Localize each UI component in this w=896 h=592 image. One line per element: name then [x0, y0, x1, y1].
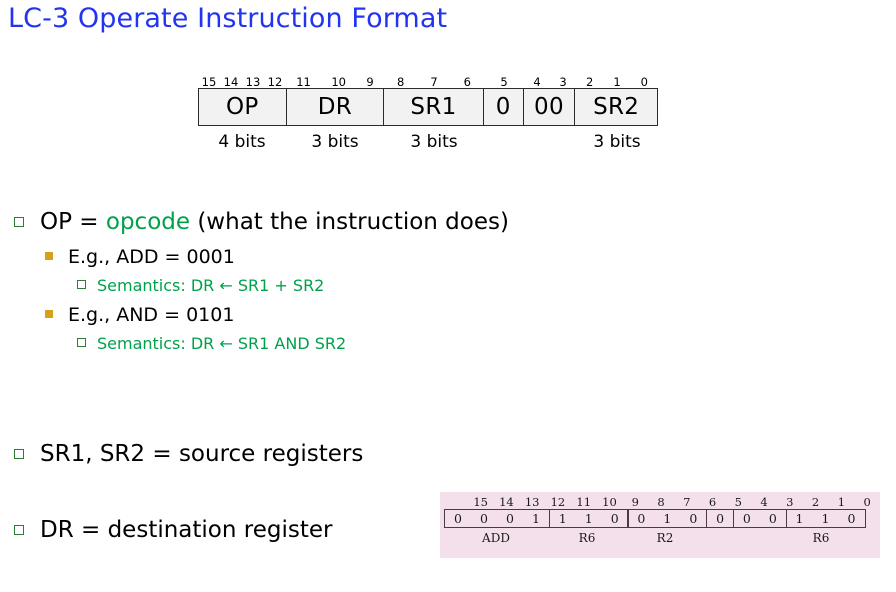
- encoding-bit-number: 12: [545, 496, 571, 509]
- encoding-group-mode: 0: [706, 509, 734, 528]
- page-title: LC-3 Operate Instruction Format: [8, 2, 447, 36]
- instruction-encoding-example: 15 14 13 12 11 10 9 8 7 6 5 4 3 2 1 0 0 …: [440, 492, 880, 558]
- bit-number: 15: [202, 76, 217, 88]
- encoding-bit-number: 14: [494, 496, 520, 509]
- bullet-item-add-semantics: Semantics: DR ← SR1 + SR2: [77, 276, 560, 304]
- instruction-format-diagram: 15 14 13 12 11 10 9 8 7 6 5 4 3 2 1 0 OP: [198, 70, 658, 155]
- encoding-group-opcode: 0 0 0 1: [444, 509, 550, 528]
- bit-numbers-dr: 11 10 9: [286, 76, 384, 88]
- filled-square-bullet-icon: [45, 310, 53, 318]
- bit-number: 12: [268, 76, 283, 88]
- bit-number: 8: [397, 76, 404, 88]
- encoding-bit-value: 0: [760, 510, 786, 527]
- encoding-bit-value: 0: [602, 510, 628, 527]
- field-pad: 00: [524, 89, 576, 125]
- hollow-square-bullet-icon: [77, 338, 86, 347]
- encoding-group-label-row: ADD R6 R2 R6: [444, 529, 876, 547]
- encoding-bit-value: 0: [471, 510, 497, 527]
- bit-number: 9: [366, 76, 373, 88]
- bullet-item-source-registers: SR1, SR2 = source registers: [14, 440, 470, 478]
- bit-number: 6: [464, 76, 471, 88]
- bit-number: 11: [296, 76, 311, 88]
- encoding-bit-value: 0: [707, 510, 733, 527]
- bullet-item-and-semantics: Semantics: DR ← SR1 AND SR2: [77, 334, 560, 362]
- encoding-group-dr: 1 1 0: [549, 509, 629, 528]
- bit-numbers-mode: 5: [484, 76, 524, 88]
- encoding-bit-number: 15: [468, 496, 494, 509]
- encoding-bit-number: 5: [725, 496, 751, 509]
- field-op: OP: [199, 89, 287, 125]
- encoding-bit-value-row: 0 0 0 1 1 1 0 0 1 0 0 0 0 1 1 0: [444, 509, 876, 528]
- field-width-sr1: 3 bits: [384, 132, 484, 152]
- bullet-item-and-example: E.g., AND = 0101: [45, 304, 560, 334]
- bullet-text-source-registers: SR1, SR2 = source registers: [40, 440, 363, 468]
- field-width-sr2: 3 bits: [576, 132, 658, 152]
- encoding-bit-value: 0: [680, 510, 706, 527]
- instruction-field-row: OP DR SR1 0 00 SR2: [198, 88, 658, 126]
- lower-bullet-list: SR1, SR2 = source registers DR = destina…: [0, 440, 470, 592]
- bit-number: 13: [246, 76, 261, 88]
- encoding-bit-value: 0: [734, 510, 760, 527]
- encoding-bit-value: 0: [839, 510, 865, 527]
- encoding-bit-number: 8: [648, 496, 674, 509]
- bit-number: 3: [559, 76, 566, 88]
- bullet-item-add-example: E.g., ADD = 0001: [45, 246, 560, 276]
- encoding-bit-value: 1: [523, 510, 549, 527]
- encoding-bit-number: 11: [571, 496, 597, 509]
- encoding-bit-value: 1: [576, 510, 602, 527]
- bullet-list: OP = opcode (what the instruction does) …: [0, 208, 560, 362]
- encoding-bit-number: 3: [777, 496, 803, 509]
- encoding-bit-value: 0: [497, 510, 523, 527]
- encoding-label-sr1: R2: [626, 531, 704, 545]
- encoding-bit-value: 0: [628, 510, 654, 527]
- encoding-label-dr: R6: [548, 531, 626, 545]
- bit-number: 4: [533, 76, 540, 88]
- field-width-row: 4 bits 3 bits 3 bits 3 bits: [198, 129, 658, 155]
- encoding-group-pad: 0 0: [733, 509, 787, 528]
- hollow-square-bullet-icon: [14, 525, 24, 535]
- encoding-bit-value: 0: [445, 510, 471, 527]
- field-width-op: 4 bits: [198, 132, 286, 152]
- bit-number: 5: [500, 76, 507, 88]
- field-width-dr: 3 bits: [286, 132, 384, 152]
- bit-numbers-pad: 4 3: [524, 76, 576, 88]
- encoding-bit-number: 13: [519, 496, 545, 509]
- bullet-text-add-example: E.g., ADD = 0001: [68, 246, 235, 269]
- bit-number: 1: [613, 76, 620, 88]
- hollow-square-bullet-icon: [77, 280, 86, 289]
- encoding-bit-value: 1: [787, 510, 813, 527]
- encoding-label-opcode: ADD: [444, 531, 548, 545]
- opcode-highlight-text: opcode: [106, 209, 190, 235]
- encoding-group-sr2: 1 1 0: [786, 509, 866, 528]
- encoding-bit-value: 1: [813, 510, 839, 527]
- bit-numbers-sr1: 8 7 6: [384, 76, 484, 88]
- field-dr: DR: [287, 89, 385, 125]
- encoding-bit-number: 0: [854, 496, 880, 509]
- bullet-text-destination-register: DR = destination register: [40, 516, 332, 544]
- bit-numbers-sr2: 2 1 0: [576, 76, 658, 88]
- encoding-bit-number: 1: [828, 496, 854, 509]
- bullet-text-add-semantics: Semantics: DR ← SR1 + SR2: [97, 276, 324, 296]
- encoding-bit-number: 10: [597, 496, 623, 509]
- encoding-bit-number: 2: [803, 496, 829, 509]
- encoding-bit-number: 4: [751, 496, 777, 509]
- bit-numbers-op: 15 14 13 12: [198, 76, 286, 88]
- bit-number: 10: [331, 76, 346, 88]
- encoding-bit-number: 7: [674, 496, 700, 509]
- encoding-bit-value: 1: [654, 510, 680, 527]
- bullet-text-and-example: E.g., AND = 0101: [68, 304, 234, 327]
- filled-square-bullet-icon: [45, 252, 53, 260]
- bit-number: 2: [586, 76, 593, 88]
- opcode-suffix-text: (what the instruction does): [190, 209, 509, 235]
- field-sr1: SR1: [384, 89, 484, 125]
- encoding-label-sr2: R6: [782, 531, 860, 545]
- bullet-text-opcode: OP = opcode (what the instruction does): [40, 208, 509, 236]
- encoding-bit-number: 6: [700, 496, 726, 509]
- bit-number: 0: [641, 76, 648, 88]
- bit-number-row: 15 14 13 12 11 10 9 8 7 6 5 4 3 2 1 0: [198, 70, 658, 88]
- bullet-item-opcode: OP = opcode (what the instruction does): [14, 208, 560, 246]
- encoding-bit-number-row: 15 14 13 12 11 10 9 8 7 6 5 4 3 2 1 0: [440, 492, 880, 509]
- encoding-bit-number: 9: [622, 496, 648, 509]
- encoding-bit-value: 1: [550, 510, 576, 527]
- bullet-item-destination-register: DR = destination register: [14, 516, 470, 554]
- field-sr2: SR2: [575, 89, 657, 125]
- bit-number: 7: [430, 76, 437, 88]
- bit-number: 14: [224, 76, 239, 88]
- encoding-group-sr1: 0 1 0: [627, 509, 707, 528]
- bullet-text-and-semantics: Semantics: DR ← SR1 AND SR2: [97, 334, 346, 354]
- opcode-prefix-text: OP =: [40, 209, 106, 235]
- hollow-square-bullet-icon: [14, 217, 24, 227]
- field-mode: 0: [484, 89, 524, 125]
- hollow-square-bullet-icon: [14, 449, 24, 459]
